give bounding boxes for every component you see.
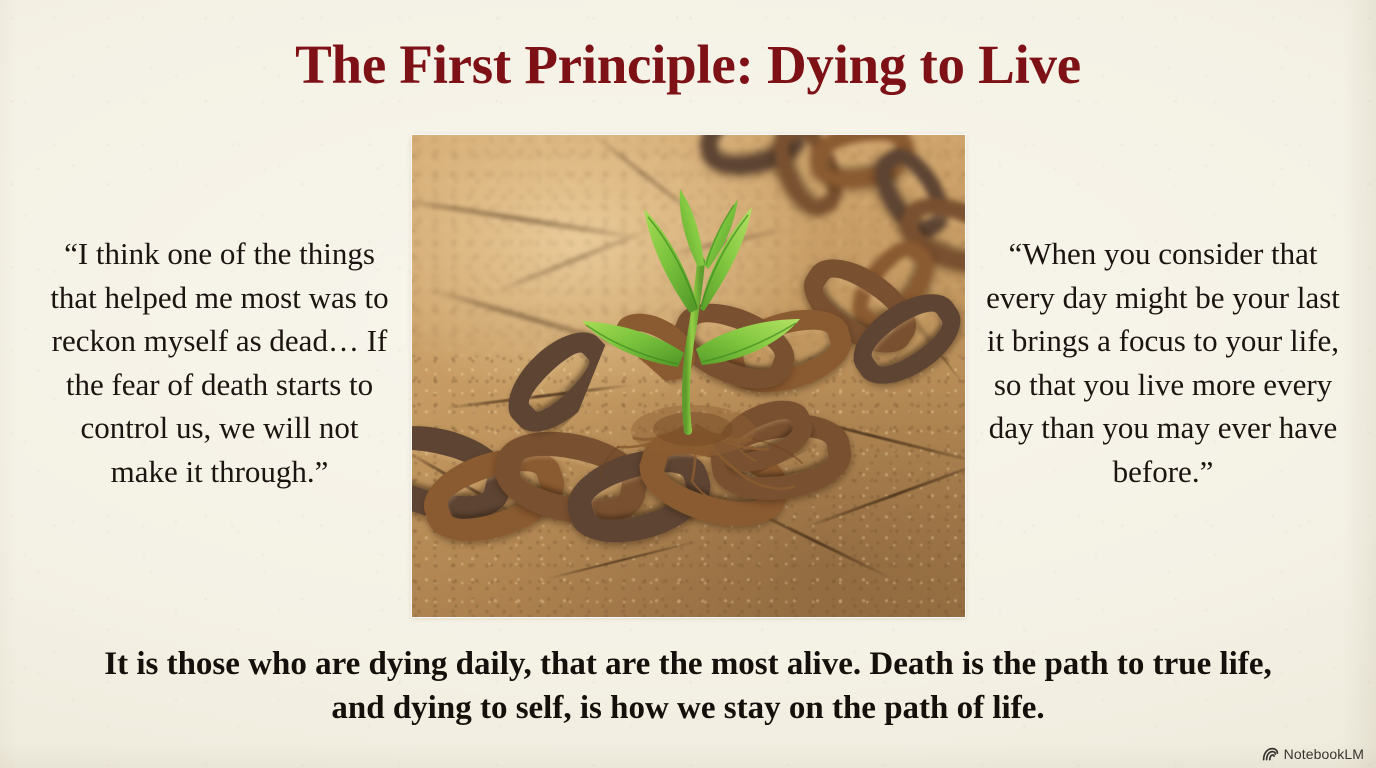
sprout-chain-image <box>412 135 965 617</box>
quote-right: “When you consider that every day might … <box>984 232 1342 493</box>
sprout-chain-illustration <box>412 135 965 617</box>
green-sprout <box>412 135 965 617</box>
quote-left: “I think one of the things that helped m… <box>46 232 393 493</box>
slide-title: The First Principle: Dying to Live <box>0 36 1376 94</box>
slide-canvas: The First Principle: Dying to Live “I th… <box>0 0 1376 768</box>
notebooklm-label: NotebookLM <box>1284 746 1364 762</box>
notebooklm-watermark: NotebookLM <box>1262 746 1364 762</box>
slide-caption: It is those who are dying daily, that ar… <box>96 642 1280 730</box>
notebooklm-spiral-icon <box>1262 747 1279 761</box>
